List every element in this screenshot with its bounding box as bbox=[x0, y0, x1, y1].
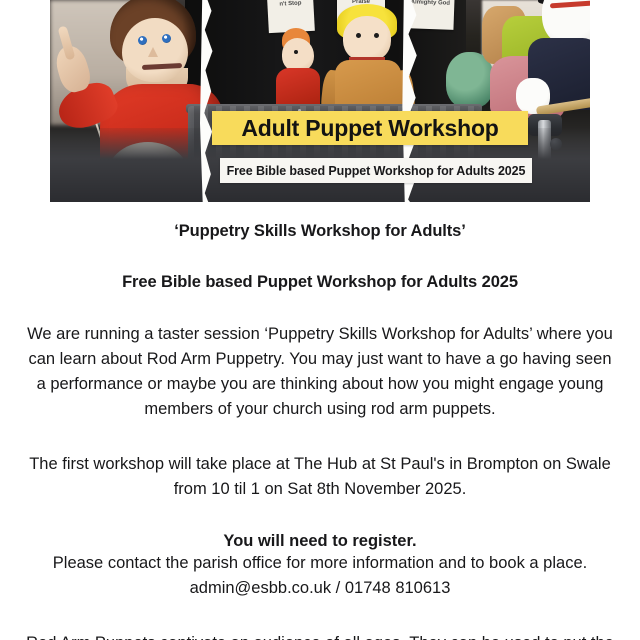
heading-puppetry-skills: ‘Puppetry Skills Workshop for Adults’ bbox=[0, 222, 640, 241]
hero-subtitle-text: Free Bible based Puppet Workshop for Adu… bbox=[227, 164, 526, 178]
hero-photo: n't Stop Praise Almighty God bbox=[50, 0, 590, 202]
puppet-orange-eye bbox=[294, 50, 298, 54]
hero-title-banner: Adult Puppet Workshop bbox=[212, 111, 528, 145]
poster-page: n't Stop Praise Almighty God bbox=[0, 0, 640, 640]
puppet-centre-eye-left bbox=[356, 33, 361, 38]
heading-free-bible-workshop: Free Bible based Puppet Workshop for Adu… bbox=[0, 273, 640, 292]
poster-body: ‘Puppetry Skills Workshop for Adults’ Fr… bbox=[0, 202, 640, 640]
register-notice: You will need to register. bbox=[0, 532, 640, 551]
puppet-left-eye-left bbox=[138, 36, 147, 45]
hero-title-text: Adult Puppet Workshop bbox=[241, 115, 498, 142]
puppet-orange-head bbox=[282, 38, 314, 72]
paragraph-rod-arm-puppets: Rod Arm Puppets captivate an audience of… bbox=[0, 631, 640, 640]
puppet-left-nose bbox=[148, 47, 158, 57]
contact-details: admin@esbb.co.uk / 01748 810613 bbox=[0, 576, 640, 601]
puppet-centre-head bbox=[343, 16, 391, 62]
puppet-left-eye-right bbox=[162, 34, 171, 43]
puppet-centre-eye-right bbox=[374, 33, 379, 38]
paragraph-contact-parish-office: Please contact the parish office for mor… bbox=[0, 551, 640, 576]
paragraph-taster-session: We are running a taster session ‘Puppetr… bbox=[0, 322, 640, 422]
hero-subtitle-banner: Free Bible based Puppet Workshop for Adu… bbox=[220, 158, 532, 183]
paragraph-first-workshop-details: The first workshop will take place at Th… bbox=[0, 452, 640, 502]
